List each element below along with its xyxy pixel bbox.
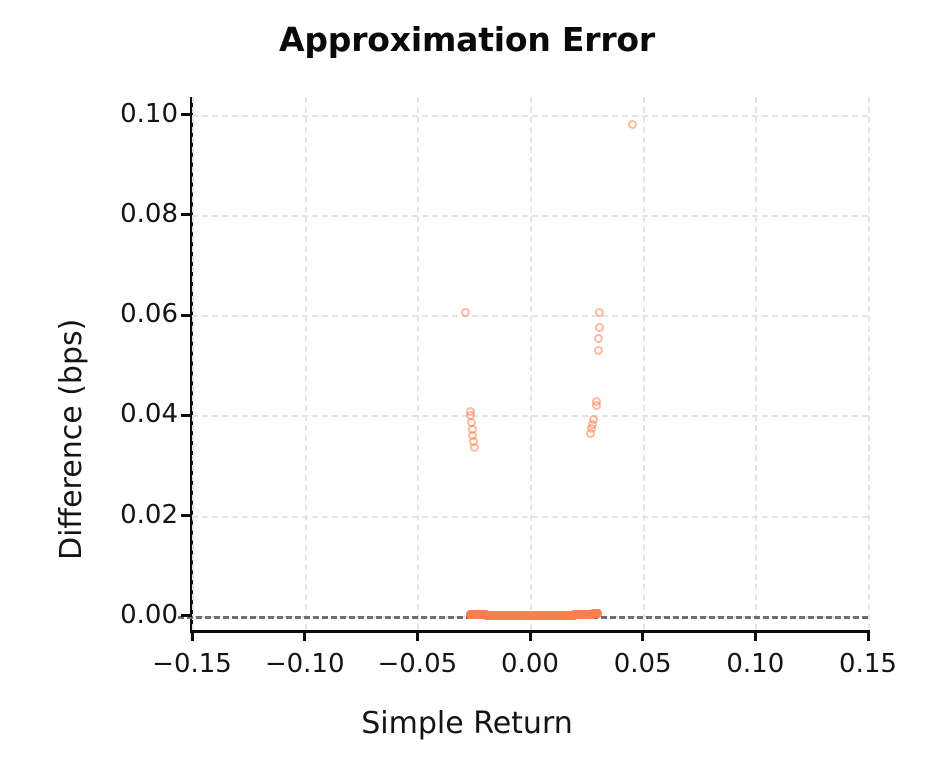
y-tick-label: 0.02 [88,500,178,530]
y-tick-label: 0.04 [88,399,178,429]
scatter-point [595,308,604,317]
x-tick-label: 0.15 [798,649,934,679]
x-tick-mark [754,630,757,641]
y-tick-label: 0.00 [88,600,178,630]
chart-title: Approximation Error [0,22,934,58]
x-axis-label: Simple Return [0,706,934,741]
y-tick-mark [181,113,192,116]
y-tick-mark [181,514,192,517]
x-tick-mark [867,630,870,641]
scatter-point [486,611,495,620]
y-tick-mark [181,213,192,216]
scatter-point [592,401,601,410]
scatter-point [595,323,604,332]
x-tick-mark [416,630,419,641]
y-tick-label: 0.10 [88,99,178,129]
scatter-point [569,611,578,620]
scatter-point [594,346,603,355]
scatter-point [594,334,603,343]
scatter-point [586,429,595,438]
y-axis-label: Difference (bps) [54,319,89,560]
scatter-point [628,120,637,129]
y-tick-mark [181,614,192,617]
plot-area [192,97,868,630]
scatter-series [192,97,868,630]
y-tick-label: 0.06 [88,299,178,329]
figure-canvas: Approximation Error −0.15−0.10−0.050.000… [0,0,934,784]
x-tick-mark [641,630,644,641]
scatter-point [470,443,479,452]
y-tick-mark [181,414,192,417]
x-tick-mark [529,630,532,641]
y-tick-label: 0.08 [88,199,178,229]
scatter-point [526,611,535,620]
y-tick-mark [181,314,192,317]
scatter-point [579,610,588,619]
scatter-point [558,611,567,620]
gridline-vertical [868,97,870,630]
x-tick-mark [191,630,194,641]
x-tick-mark [303,630,306,641]
scatter-point [461,308,470,317]
